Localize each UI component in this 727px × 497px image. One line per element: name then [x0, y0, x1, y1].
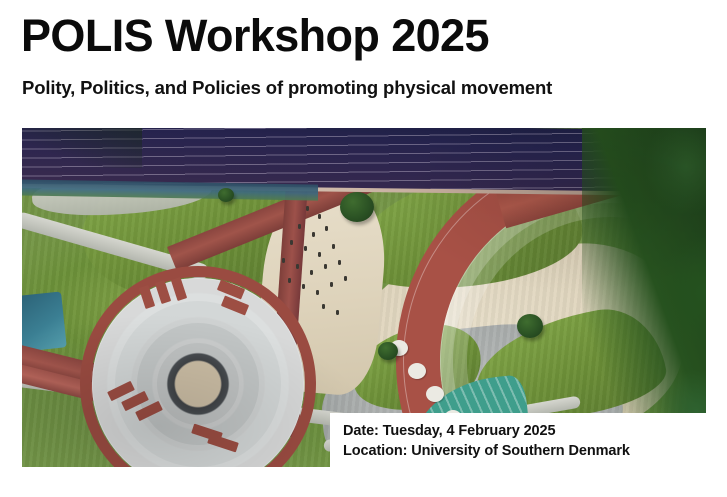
person-dot — [304, 246, 307, 251]
tree — [517, 314, 543, 338]
tree — [340, 192, 374, 222]
person-dot — [344, 276, 347, 281]
tree — [378, 342, 398, 360]
person-dot — [302, 284, 305, 289]
person-dot — [318, 214, 321, 219]
person-dot — [290, 240, 293, 245]
person-dot — [325, 226, 328, 231]
seat-pod — [426, 386, 444, 402]
person-dot — [296, 264, 299, 269]
person-dot — [330, 282, 333, 287]
person-dot — [282, 258, 285, 263]
person-dot — [338, 260, 341, 265]
person-dot — [332, 244, 335, 249]
person-dot — [312, 232, 315, 237]
person-dot — [324, 264, 327, 269]
person-dot — [298, 224, 301, 229]
water-pool-left — [22, 291, 67, 352]
event-date: Date: Tuesday, 4 February 2025 — [343, 421, 706, 441]
tree-shadow-top-left — [22, 128, 142, 168]
event-info-box: Date: Tuesday, 4 February 2025 Location:… — [330, 413, 706, 468]
tree — [218, 188, 234, 202]
person-dot — [316, 290, 319, 295]
event-location: Location: University of Southern Denmark — [343, 441, 706, 461]
person-dot — [288, 278, 291, 283]
person-dot — [310, 270, 313, 275]
person-dot — [322, 304, 325, 309]
slide-root: POLIS Workshop 2025 Polity, Politics, an… — [0, 0, 727, 497]
person-dot — [318, 252, 321, 257]
person-dot — [306, 206, 309, 211]
page-title: POLIS Workshop 2025 — [21, 10, 489, 62]
page-subtitle: Polity, Politics, and Policies of promot… — [22, 77, 552, 99]
seat-pod — [408, 363, 426, 379]
person-dot — [336, 310, 339, 315]
